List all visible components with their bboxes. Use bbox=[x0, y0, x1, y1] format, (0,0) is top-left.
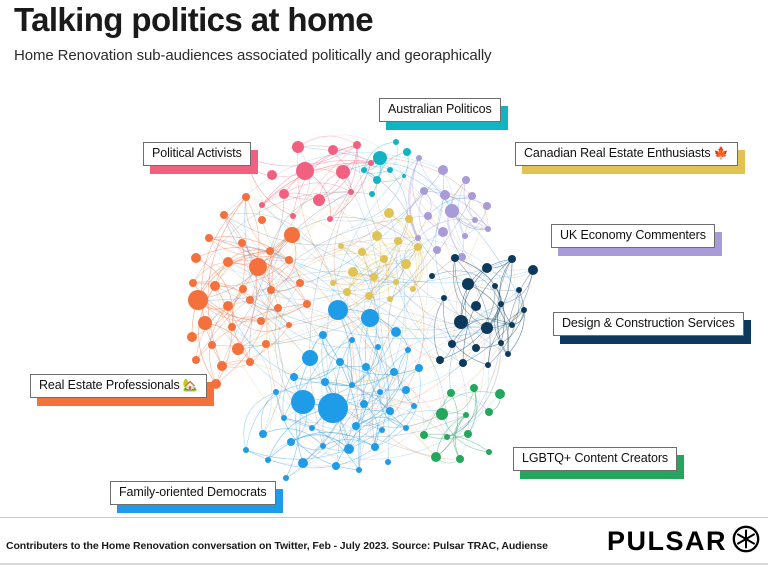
network-node[interactable] bbox=[223, 257, 233, 267]
network-node[interactable] bbox=[362, 363, 370, 371]
network-node[interactable] bbox=[246, 296, 254, 304]
brand-wordmark: PULSAR bbox=[607, 528, 727, 555]
network-node[interactable] bbox=[403, 425, 409, 431]
network-node[interactable] bbox=[223, 301, 233, 311]
network-node[interactable] bbox=[464, 430, 472, 438]
network-node[interactable] bbox=[498, 301, 504, 307]
network-node[interactable] bbox=[361, 167, 367, 173]
network-node[interactable] bbox=[296, 162, 314, 180]
network-node[interactable] bbox=[372, 231, 382, 241]
network-edge bbox=[468, 365, 489, 434]
network-node[interactable] bbox=[505, 351, 511, 357]
network-node[interactable] bbox=[318, 393, 348, 423]
network-node[interactable] bbox=[365, 292, 373, 300]
callout-emoji-icon: 🏡 bbox=[180, 378, 198, 392]
callout-label: Family-oriented Democrats bbox=[110, 481, 276, 505]
network-edge bbox=[298, 136, 357, 147]
network-node[interactable] bbox=[508, 255, 516, 263]
callout-label: Canadian Real Estate Enthusiasts 🍁 bbox=[515, 142, 738, 166]
network-node[interactable] bbox=[424, 212, 432, 220]
network-node[interactable] bbox=[462, 233, 468, 239]
callout-political-activists[interactable]: Political Activists bbox=[143, 142, 251, 166]
network-node[interactable] bbox=[498, 340, 504, 346]
network-node[interactable] bbox=[447, 389, 455, 397]
network-node[interactable] bbox=[328, 145, 338, 155]
network-node[interactable] bbox=[283, 475, 289, 481]
network-node[interactable] bbox=[468, 192, 476, 200]
network-node[interactable] bbox=[391, 327, 401, 337]
callout-label: UK Economy Commenters bbox=[551, 224, 715, 248]
network-node[interactable] bbox=[290, 373, 298, 381]
network-node[interactable] bbox=[375, 344, 381, 350]
network-node[interactable] bbox=[387, 167, 393, 173]
edge-layer bbox=[192, 135, 533, 478]
network-node[interactable] bbox=[187, 332, 197, 342]
network-node[interactable] bbox=[414, 243, 422, 251]
network-edge bbox=[461, 268, 487, 322]
callout-uk-economy-commenters[interactable]: UK Economy Commenters bbox=[551, 224, 715, 248]
network-node[interactable] bbox=[472, 344, 480, 352]
network-node[interactable] bbox=[373, 176, 381, 184]
network-node[interactable] bbox=[393, 139, 399, 145]
network-node[interactable] bbox=[486, 449, 492, 455]
network-node[interactable] bbox=[361, 309, 379, 327]
network-node[interactable] bbox=[485, 408, 493, 416]
network-node[interactable] bbox=[402, 386, 410, 394]
network-node[interactable] bbox=[384, 208, 394, 218]
network-node[interactable] bbox=[385, 459, 391, 465]
network-node[interactable] bbox=[470, 384, 478, 392]
network-node[interactable] bbox=[232, 343, 244, 355]
network-node[interactable] bbox=[360, 400, 368, 408]
network-node[interactable] bbox=[451, 254, 459, 262]
network-node[interactable] bbox=[377, 389, 383, 395]
network-node[interactable] bbox=[429, 273, 435, 279]
network-node[interactable] bbox=[243, 447, 249, 453]
network-node[interactable] bbox=[379, 427, 385, 433]
network-edge bbox=[284, 172, 343, 199]
network-node[interactable] bbox=[321, 378, 329, 386]
network-node[interactable] bbox=[393, 279, 399, 285]
infographic-page: Talking politics at home Home Renovation… bbox=[0, 0, 768, 565]
network-node[interactable] bbox=[302, 350, 318, 366]
network-node[interactable] bbox=[403, 148, 411, 156]
callout-label: Australian Politicos bbox=[379, 98, 501, 122]
network-node[interactable] bbox=[415, 235, 421, 241]
network-node[interactable] bbox=[281, 415, 287, 421]
network-node[interactable] bbox=[463, 412, 469, 418]
network-node[interactable] bbox=[208, 341, 216, 349]
network-node[interactable] bbox=[521, 307, 527, 313]
network-edge bbox=[246, 197, 270, 251]
network-node[interactable] bbox=[441, 295, 447, 301]
network-node[interactable] bbox=[205, 234, 213, 242]
callout-family-oriented-democrats[interactable]: Family-oriented Democrats bbox=[110, 481, 276, 505]
network-node[interactable] bbox=[448, 340, 456, 348]
network-node[interactable] bbox=[267, 286, 275, 294]
network-node[interactable] bbox=[431, 452, 441, 462]
network-node[interactable] bbox=[445, 204, 459, 218]
network-node[interactable] bbox=[328, 300, 348, 320]
network-node[interactable] bbox=[228, 323, 236, 331]
network-edge bbox=[376, 180, 418, 238]
network-node[interactable] bbox=[242, 193, 250, 201]
network-node[interactable] bbox=[462, 176, 470, 184]
network-node[interactable] bbox=[483, 202, 491, 210]
network-node[interactable] bbox=[436, 408, 448, 420]
network-node[interactable] bbox=[394, 237, 402, 245]
network-node[interactable] bbox=[353, 141, 361, 149]
network-node[interactable] bbox=[410, 286, 416, 292]
callout-label: Real Estate Professionals 🏡 bbox=[30, 374, 207, 398]
network-node[interactable] bbox=[246, 358, 254, 366]
network-node[interactable] bbox=[189, 279, 197, 287]
network-node[interactable] bbox=[309, 425, 315, 431]
callout-design-construction[interactable]: Design & Construction Services bbox=[553, 312, 744, 336]
network-node[interactable] bbox=[267, 170, 277, 180]
network-node[interactable] bbox=[273, 389, 279, 395]
network-node[interactable] bbox=[436, 356, 444, 364]
network-node[interactable] bbox=[259, 430, 267, 438]
network-node[interactable] bbox=[257, 317, 265, 325]
network-node[interactable] bbox=[405, 347, 411, 353]
network-node[interactable] bbox=[368, 160, 374, 166]
network-node[interactable] bbox=[292, 141, 304, 153]
network-node[interactable] bbox=[371, 443, 379, 451]
network-node[interactable] bbox=[472, 217, 478, 223]
network-node[interactable] bbox=[238, 239, 246, 247]
callout-emoji-icon: 🍁 bbox=[711, 146, 729, 160]
network-node[interactable] bbox=[390, 368, 398, 376]
callout-australian-politicos[interactable]: Australian Politicos bbox=[379, 98, 501, 122]
asterisk-in-circle-icon bbox=[732, 525, 760, 558]
network-node[interactable] bbox=[405, 215, 413, 223]
network-node[interactable] bbox=[471, 301, 481, 311]
network-node[interactable] bbox=[319, 331, 327, 339]
network-node[interactable] bbox=[336, 358, 344, 366]
network-node[interactable] bbox=[296, 279, 304, 287]
callout-label: Design & Construction Services bbox=[553, 312, 744, 336]
network-node[interactable] bbox=[492, 283, 498, 289]
network-node[interactable] bbox=[348, 189, 354, 195]
network-node[interactable] bbox=[336, 165, 350, 179]
network-edge bbox=[440, 304, 501, 360]
network-node[interactable] bbox=[258, 216, 266, 224]
footer-divider bbox=[0, 517, 768, 518]
network-node[interactable] bbox=[349, 337, 355, 343]
network-node[interactable] bbox=[440, 190, 450, 200]
network-node[interactable] bbox=[249, 258, 267, 276]
network-node[interactable] bbox=[459, 359, 467, 367]
network-node[interactable] bbox=[217, 361, 227, 371]
network-node[interactable] bbox=[303, 300, 311, 308]
network-node[interactable] bbox=[433, 246, 441, 254]
network-node[interactable] bbox=[438, 227, 448, 237]
network-node[interactable] bbox=[509, 322, 515, 328]
network-node[interactable] bbox=[401, 259, 411, 269]
network-node[interactable] bbox=[369, 191, 375, 197]
network-node[interactable] bbox=[274, 304, 282, 312]
network-node[interactable] bbox=[411, 403, 417, 409]
network-node[interactable] bbox=[482, 263, 492, 273]
network-node[interactable] bbox=[220, 211, 228, 219]
network-node[interactable] bbox=[210, 281, 220, 291]
network-node[interactable] bbox=[279, 189, 289, 199]
network-node[interactable] bbox=[495, 389, 505, 399]
network-node[interactable] bbox=[358, 248, 366, 256]
network-edge bbox=[442, 388, 474, 414]
network-node[interactable] bbox=[420, 187, 428, 195]
network-node[interactable] bbox=[332, 462, 340, 470]
callout-label: LGBTQ+ Content Creators bbox=[513, 447, 677, 471]
network-edge bbox=[268, 442, 291, 460]
network-node[interactable] bbox=[456, 455, 464, 463]
network-node[interactable] bbox=[344, 444, 354, 454]
network-node[interactable] bbox=[191, 253, 201, 263]
network-node[interactable] bbox=[320, 443, 326, 449]
network-node[interactable] bbox=[327, 216, 333, 222]
network-node[interactable] bbox=[352, 422, 360, 430]
network-edge bbox=[384, 259, 487, 328]
network-node[interactable] bbox=[485, 362, 491, 368]
network-node[interactable] bbox=[286, 322, 292, 328]
network-node[interactable] bbox=[239, 285, 247, 293]
callout-canadian-real-estate[interactable]: Canadian Real Estate Enthusiasts 🍁 bbox=[515, 142, 738, 166]
network-node[interactable] bbox=[192, 356, 200, 364]
brand-lockup: PULSAR bbox=[607, 525, 760, 558]
network-node[interactable] bbox=[454, 315, 468, 329]
network-node[interactable] bbox=[290, 213, 296, 219]
header: Talking politics at home Home Renovation… bbox=[14, 2, 754, 64]
network-node[interactable] bbox=[481, 322, 493, 334]
network-node[interactable] bbox=[266, 247, 274, 255]
network-node[interactable] bbox=[188, 290, 208, 310]
network-node[interactable] bbox=[516, 287, 522, 293]
network-node[interactable] bbox=[343, 288, 351, 296]
network-node[interactable] bbox=[338, 243, 344, 249]
network-node[interactable] bbox=[291, 390, 315, 414]
network-node[interactable] bbox=[265, 457, 271, 463]
network-node[interactable] bbox=[416, 155, 422, 161]
network-node[interactable] bbox=[458, 253, 466, 261]
network-node[interactable] bbox=[330, 280, 336, 286]
network-node[interactable] bbox=[386, 407, 394, 415]
network-node[interactable] bbox=[485, 226, 491, 232]
network-node[interactable] bbox=[285, 256, 293, 264]
network-node[interactable] bbox=[420, 431, 428, 439]
network-node[interactable] bbox=[198, 316, 212, 330]
network-node[interactable] bbox=[356, 467, 362, 473]
network-node[interactable] bbox=[380, 255, 388, 263]
page-title: Talking politics at home bbox=[14, 2, 754, 38]
network-node[interactable] bbox=[415, 364, 423, 372]
network-node[interactable] bbox=[287, 438, 295, 446]
callout-label: Political Activists bbox=[143, 142, 251, 166]
network-node[interactable] bbox=[438, 165, 448, 175]
page-subtitle: Home Renovation sub-audiences associated… bbox=[14, 47, 754, 64]
network-node[interactable] bbox=[348, 267, 358, 277]
callout-real-estate-professionals[interactable]: Real Estate Professionals 🏡 bbox=[30, 374, 207, 398]
network-node[interactable] bbox=[313, 194, 325, 206]
network-node[interactable] bbox=[349, 382, 355, 388]
network-node[interactable] bbox=[402, 174, 406, 178]
network-node[interactable] bbox=[462, 278, 474, 290]
network-node[interactable] bbox=[528, 265, 538, 275]
network-node[interactable] bbox=[298, 458, 308, 468]
network-node[interactable] bbox=[444, 434, 450, 440]
network-node[interactable] bbox=[284, 227, 300, 243]
network-node[interactable] bbox=[259, 202, 265, 208]
network-node[interactable] bbox=[370, 273, 378, 281]
footer-note: Contributers to the Home Renovation conv… bbox=[6, 540, 548, 552]
network-node[interactable] bbox=[373, 151, 387, 165]
callout-lgbtq-content-creators[interactable]: LGBTQ+ Content Creators bbox=[513, 447, 677, 471]
network-node[interactable] bbox=[387, 296, 393, 302]
network-node[interactable] bbox=[262, 340, 270, 348]
